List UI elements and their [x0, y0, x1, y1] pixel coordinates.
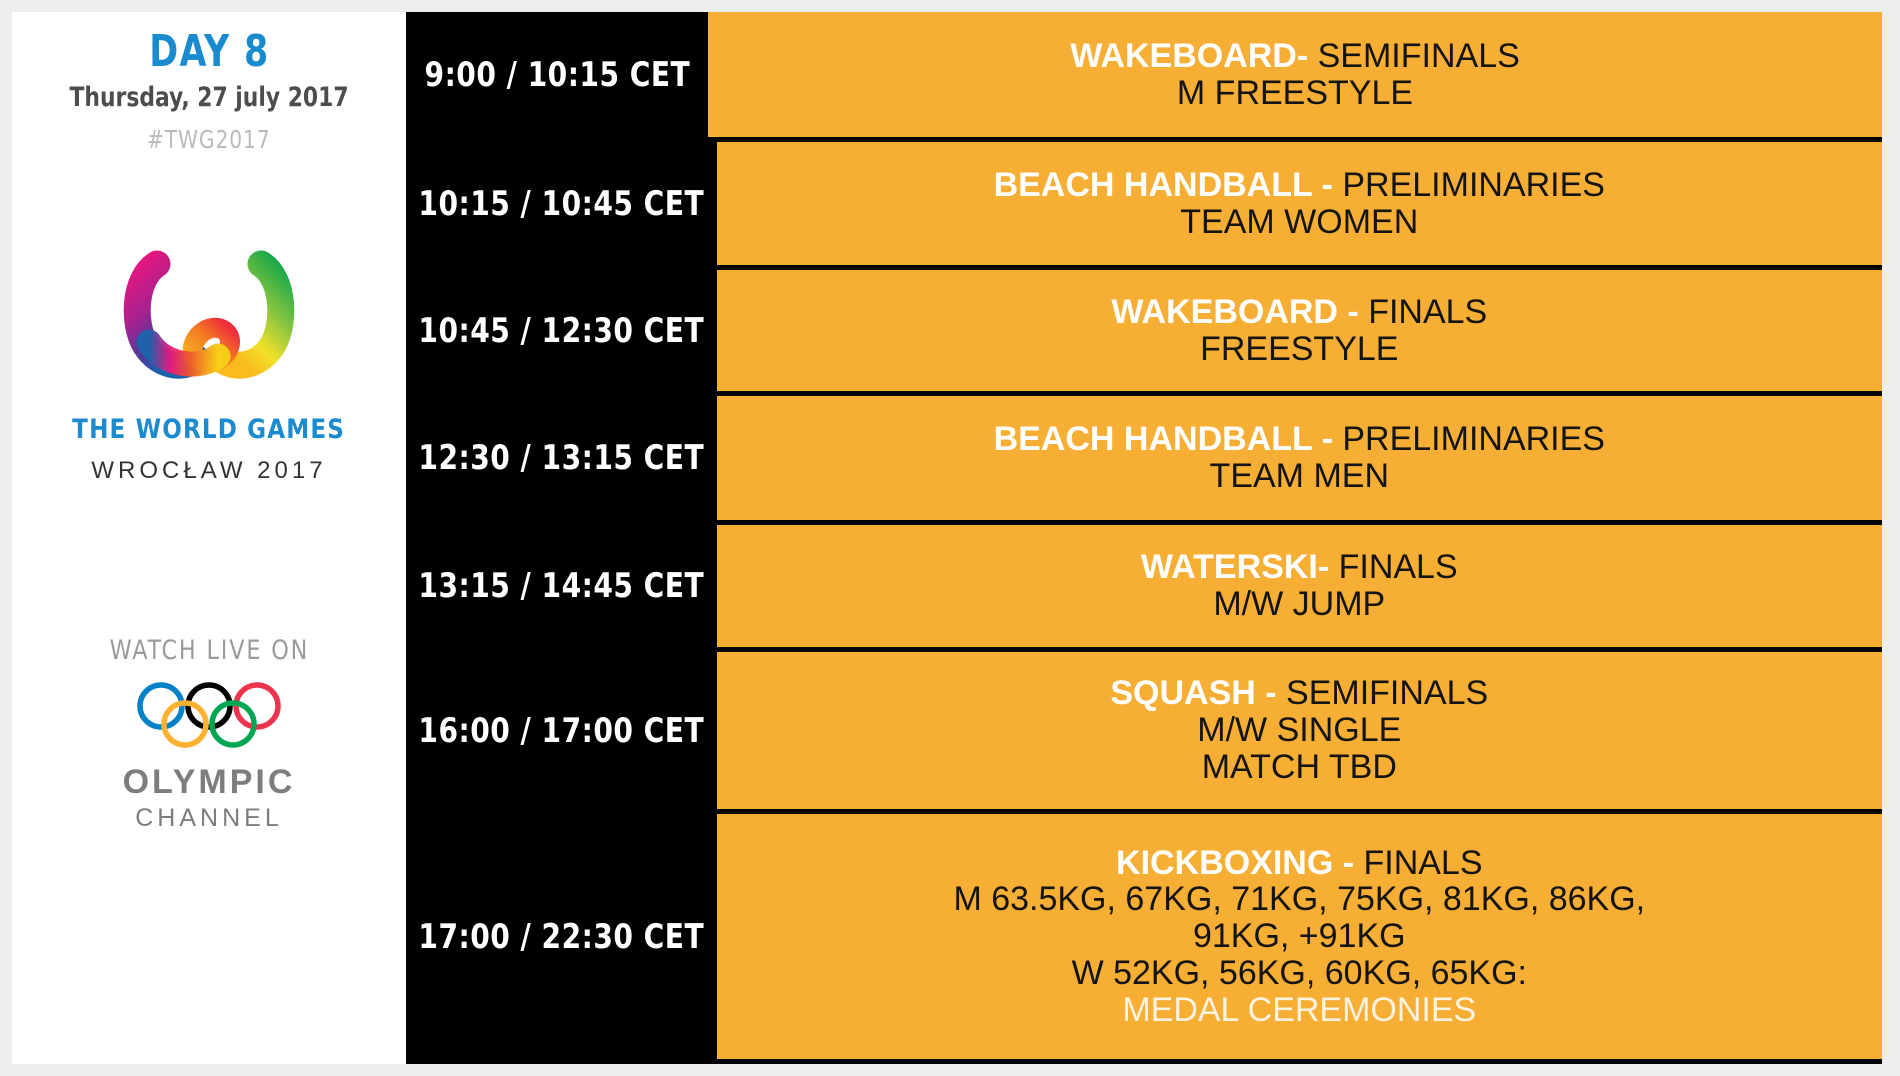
- schedule-poster: DAY 8 Thursday, 27 july 2017 #TWG2017: [12, 12, 1882, 1064]
- sport-name: KICKBOXING -: [1116, 844, 1354, 882]
- world-games-w-logo: [94, 238, 324, 388]
- event-headline: WATERSKI- FINALS: [1141, 549, 1458, 586]
- row-event: WATERSKI- FINALS M/W JUMP: [717, 525, 1882, 647]
- broadcaster-name: OLYMPIC: [123, 763, 296, 802]
- row-time: 17:00 / 22:30 CET: [406, 814, 717, 1059]
- table-row: 16:00 / 17:00 CET SQUASH - SEMIFINALS M/…: [406, 652, 1882, 814]
- event-phase: FINALS: [1329, 548, 1457, 586]
- row-event: WAKEBOARD - FINALS FREESTYLE: [717, 270, 1882, 391]
- brand-panel: DAY 8 Thursday, 27 july 2017 #TWG2017: [12, 12, 406, 1064]
- world-games-logo: [94, 238, 324, 388]
- row-time: 9:00 / 10:15 CET: [406, 12, 708, 137]
- sport-name: BEACH HANDBALL -: [994, 420, 1333, 458]
- row-event: BEACH HANDBALL - PRELIMINARIES TEAM MEN: [717, 396, 1882, 520]
- event-detail: 91KG, +91KG: [1193, 918, 1406, 955]
- row-time-label: 17:00 / 22:30 CET: [418, 917, 704, 957]
- table-row: 9:00 / 10:15 CET WAKEBOARD- SEMIFINALS M…: [406, 12, 1882, 142]
- row-time-label: 16:00 / 17:00 CET: [418, 711, 704, 751]
- page-title: DAY 8: [149, 26, 269, 77]
- row-time-label: 13:15 / 14:45 CET: [418, 566, 704, 606]
- event-phase: PRELIMINARIES: [1333, 166, 1605, 204]
- row-event: WAKEBOARD- SEMIFINALS M FREESTYLE: [708, 12, 1882, 137]
- olympic-rings-icon: [134, 680, 284, 755]
- day-date: Thursday, 27 july 2017: [69, 82, 348, 113]
- event-headline: BEACH HANDBALL - PRELIMINARIES: [994, 421, 1605, 458]
- row-event: SQUASH - SEMIFINALS M/W SINGLE MATCH TBD: [717, 652, 1882, 809]
- sport-name: BEACH HANDBALL -: [994, 166, 1333, 204]
- event-detail: M 63.5KG, 67KG, 71KG, 75KG, 81KG, 86KG,: [953, 881, 1645, 918]
- sport-name: WATERSKI-: [1141, 548, 1329, 586]
- medal-ceremonies-label: MEDAL CEREMONIES: [1122, 992, 1476, 1029]
- event-detail: W 52KG, 56KG, 60KG, 65KG:: [1072, 955, 1527, 992]
- event-detail: TEAM WOMEN: [1180, 204, 1418, 241]
- sport-name: WAKEBOARD-: [1070, 37, 1308, 75]
- table-row: 13:15 / 14:45 CET WATERSKI- FINALS M/W J…: [406, 525, 1882, 652]
- event-headline: WAKEBOARD - FINALS: [1111, 294, 1487, 331]
- event-headline: WAKEBOARD- SEMIFINALS: [1070, 38, 1520, 75]
- event-phase: SEMIFINALS: [1277, 674, 1489, 712]
- event-detail: M/W SINGLE: [1197, 712, 1401, 749]
- event-phase: FINALS: [1359, 293, 1487, 331]
- event-headline: SQUASH - SEMIFINALS: [1110, 675, 1488, 712]
- event-detail: M FREESTYLE: [1177, 75, 1413, 112]
- row-time: 10:45 / 12:30 CET: [406, 270, 717, 391]
- event-phase: SEMIFINALS: [1308, 37, 1520, 75]
- table-row: 10:15 / 10:45 CET BEACH HANDBALL - PRELI…: [406, 142, 1882, 270]
- table-row: 12:30 / 13:15 CET BEACH HANDBALL - PRELI…: [406, 396, 1882, 525]
- row-time: 10:15 / 10:45 CET: [406, 142, 717, 265]
- hashtag: #TWG2017: [147, 125, 271, 154]
- event-phase: FINALS: [1354, 844, 1482, 882]
- table-row: 10:45 / 12:30 CET WAKEBOARD - FINALS FRE…: [406, 270, 1882, 396]
- sport-name: SQUASH -: [1110, 674, 1276, 712]
- event-detail: FREESTYLE: [1200, 331, 1398, 368]
- row-time: 12:30 / 13:15 CET: [406, 396, 717, 520]
- event-name: THE WORLD GAMES: [73, 414, 346, 445]
- broadcaster-subname: CHANNEL: [135, 804, 282, 833]
- row-event: KICKBOXING - FINALS M 63.5KG, 67KG, 71KG…: [717, 814, 1882, 1059]
- row-time-label: 10:15 / 10:45 CET: [418, 184, 704, 224]
- event-headline: BEACH HANDBALL - PRELIMINARIES: [994, 167, 1605, 204]
- row-time: 16:00 / 17:00 CET: [406, 652, 717, 809]
- event-detail: TEAM MEN: [1210, 458, 1389, 495]
- event-detail: MATCH TBD: [1202, 749, 1397, 786]
- event-city-year: WROCŁAW 2017: [91, 457, 326, 485]
- row-time-label: 10:45 / 12:30 CET: [418, 311, 704, 351]
- event-detail: M/W JUMP: [1213, 586, 1385, 623]
- row-time-label: 9:00 / 10:15 CET: [424, 55, 690, 95]
- table-row: 17:00 / 22:30 CET KICKBOXING - FINALS M …: [406, 814, 1882, 1059]
- watch-live-label: WATCH LIVE ON: [109, 635, 309, 666]
- row-event: BEACH HANDBALL - PRELIMINARIES TEAM WOME…: [717, 142, 1882, 265]
- event-phase: PRELIMINARIES: [1333, 420, 1605, 458]
- row-time-label: 12:30 / 13:15 CET: [418, 438, 704, 478]
- sport-name: WAKEBOARD -: [1111, 293, 1358, 331]
- event-headline: KICKBOXING - FINALS: [1116, 845, 1482, 882]
- row-time: 13:15 / 14:45 CET: [406, 525, 717, 647]
- schedule-table: 9:00 / 10:15 CET WAKEBOARD- SEMIFINALS M…: [406, 12, 1882, 1064]
